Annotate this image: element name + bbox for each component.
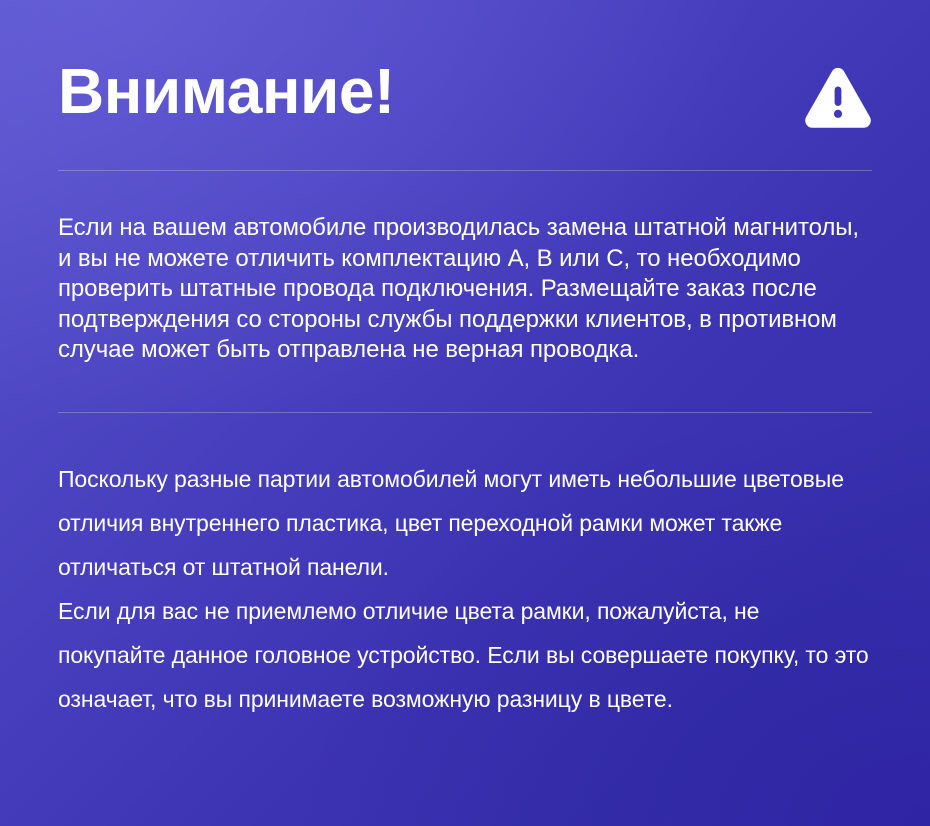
warning-notice-banner: Внимание! Если на вашем автомобиле произ… <box>0 0 930 826</box>
section-wiring-warning: Если на вашем автомобиле производилась з… <box>58 171 872 412</box>
section-color-difference-warning: Поскольку разные партии автомобилей могу… <box>58 413 872 721</box>
color-difference-paragraph-1: Поскольку разные партии автомобилей могу… <box>58 457 872 589</box>
page-title: Внимание! <box>58 56 395 126</box>
notice-header: Внимание! <box>58 0 872 170</box>
color-difference-paragraph-2: Если для вас не приемлемо отличие цвета … <box>58 589 872 721</box>
notice-content: Внимание! Если на вашем автомобиле произ… <box>0 0 930 721</box>
warning-triangle-icon <box>804 66 872 134</box>
wiring-warning-paragraph: Если на вашем автомобиле производилась з… <box>58 213 872 366</box>
